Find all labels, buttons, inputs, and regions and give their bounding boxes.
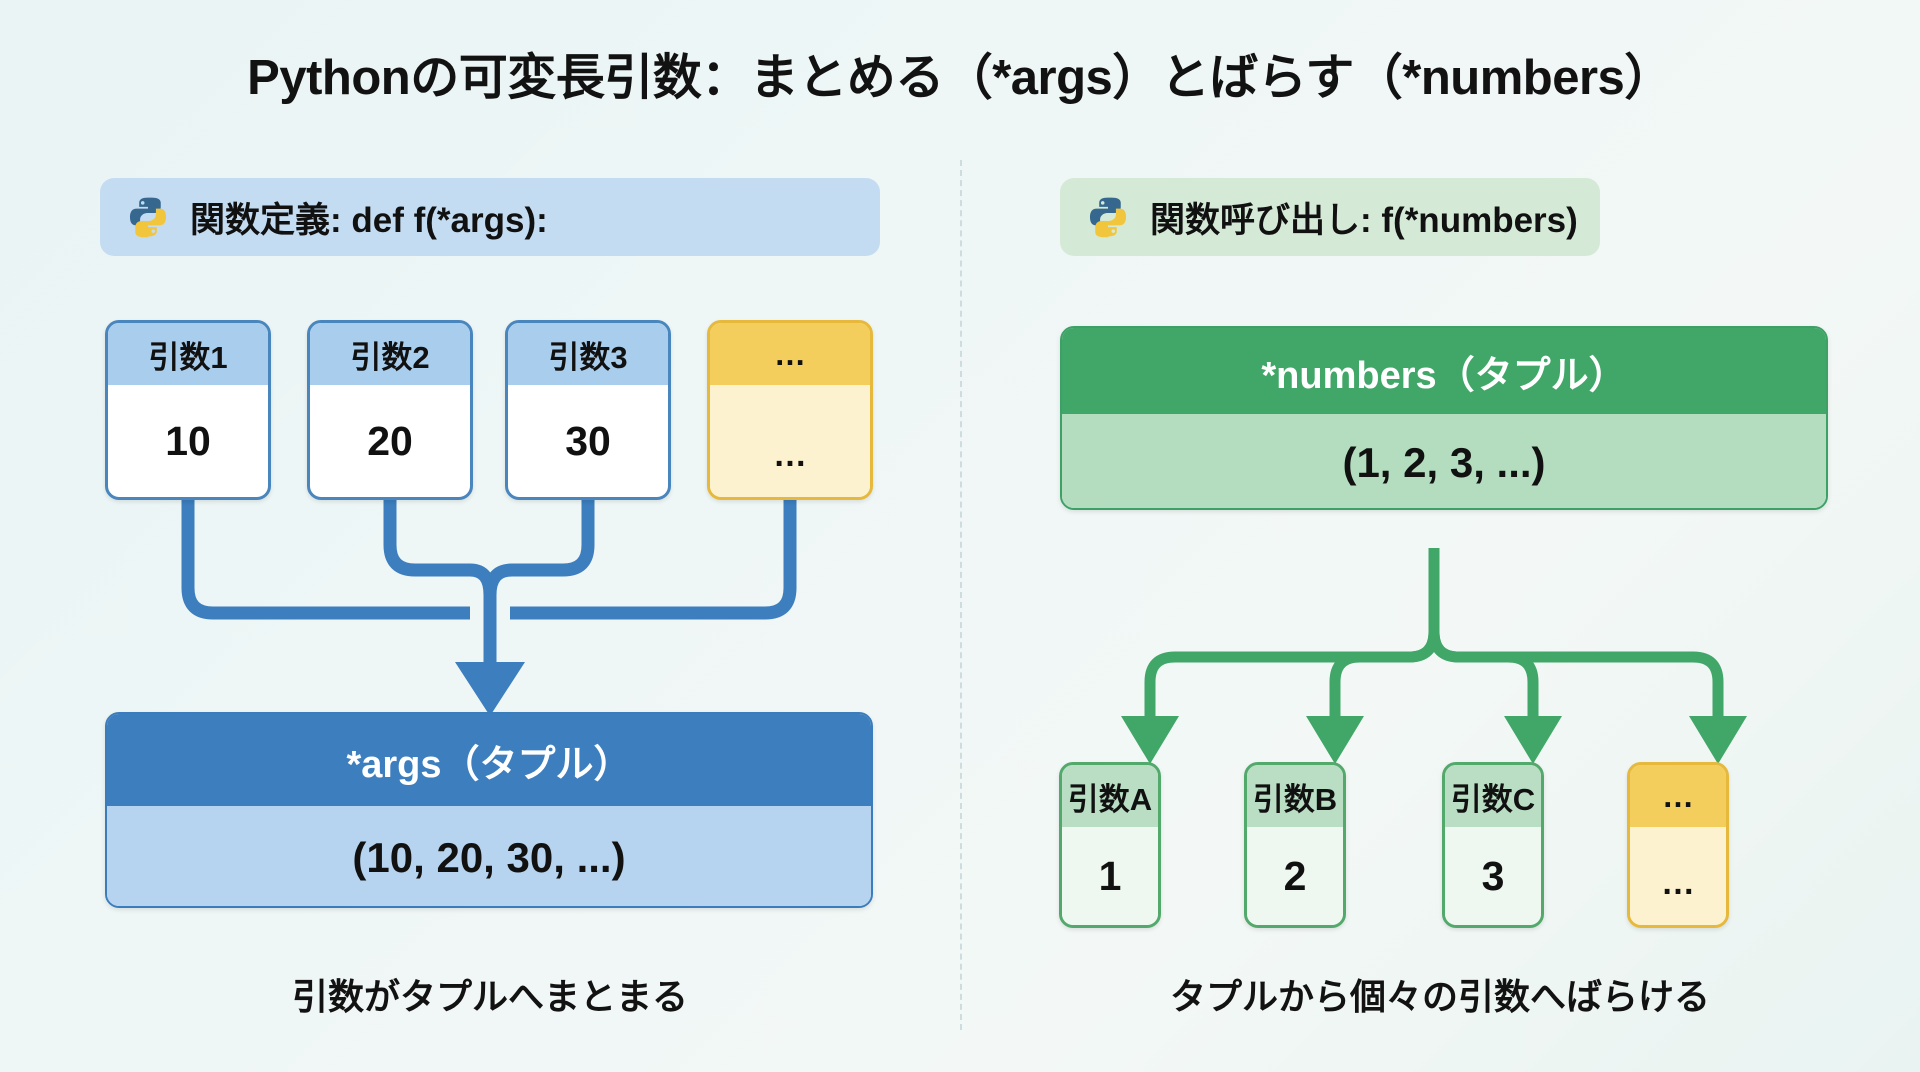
result-card-b[interactable]: 引数B 2: [1244, 762, 1346, 928]
arg-card-2-value: 20: [310, 385, 470, 497]
python-logo-icon: [126, 195, 170, 239]
arg-card-3-value: 30: [508, 385, 668, 497]
arg-card-1-header: 引数1: [108, 323, 268, 385]
numbers-tuple-value: (1, 2, 3, ...): [1062, 414, 1826, 510]
right-panel: 関数呼び出し: f(*numbers) *numbers（タプル） (1, 2,…: [960, 0, 1920, 1072]
arg-card-ellipsis-header: …: [710, 323, 870, 385]
diagram-canvas: Pythonの可変長引数：まとめる（*args）とばらす（*numbers）: [0, 0, 1920, 1072]
right-caption: タプルから個々の引数へばらける: [1060, 968, 1820, 1020]
arg-card-1-value: 10: [108, 385, 268, 497]
args-tuple-box[interactable]: *args（タプル） (10, 20, 30, ...): [105, 712, 873, 908]
result-card-b-value: 2: [1247, 827, 1343, 925]
args-tuple-value: (10, 20, 30, ...): [107, 806, 871, 908]
arg-card-1[interactable]: 引数1 10: [105, 320, 271, 500]
result-card-c[interactable]: 引数C 3: [1442, 762, 1544, 928]
result-card-ellipsis-value: …: [1630, 827, 1726, 925]
result-card-ellipsis-header: …: [1630, 765, 1726, 827]
numbers-tuple-box[interactable]: *numbers（タプル） (1, 2, 3, ...): [1060, 326, 1828, 510]
result-card-a[interactable]: 引数A 1: [1059, 762, 1161, 928]
left-band-label: 関数定義: def f(*args):: [190, 192, 548, 243]
result-card-b-header: 引数B: [1247, 765, 1343, 827]
arg-card-2-header: 引数2: [310, 323, 470, 385]
left-caption: 引数がタプルへまとまる: [100, 968, 880, 1020]
python-logo-icon: [1086, 195, 1130, 239]
result-card-ellipsis[interactable]: … …: [1627, 762, 1729, 928]
arg-card-3-header: 引数3: [508, 323, 668, 385]
result-card-a-value: 1: [1062, 827, 1158, 925]
arg-card-ellipsis[interactable]: … …: [707, 320, 873, 500]
arg-card-ellipsis-value: …: [710, 385, 870, 497]
numbers-tuple-header: *numbers（タプル）: [1062, 328, 1826, 414]
arg-card-3[interactable]: 引数3 30: [505, 320, 671, 500]
left-panel: 関数定義: def f(*args): 引数1 10 引数2 20 引数3 30…: [0, 0, 960, 1072]
right-header-band: 関数呼び出し: f(*numbers): [1060, 178, 1600, 256]
result-card-c-value: 3: [1445, 827, 1541, 925]
left-header-band: 関数定義: def f(*args):: [100, 178, 880, 256]
right-band-label: 関数呼び出し: f(*numbers): [1150, 192, 1578, 243]
result-card-c-header: 引数C: [1445, 765, 1541, 827]
args-tuple-header: *args（タプル）: [107, 714, 871, 806]
result-card-a-header: 引数A: [1062, 765, 1158, 827]
arg-card-2[interactable]: 引数2 20: [307, 320, 473, 500]
